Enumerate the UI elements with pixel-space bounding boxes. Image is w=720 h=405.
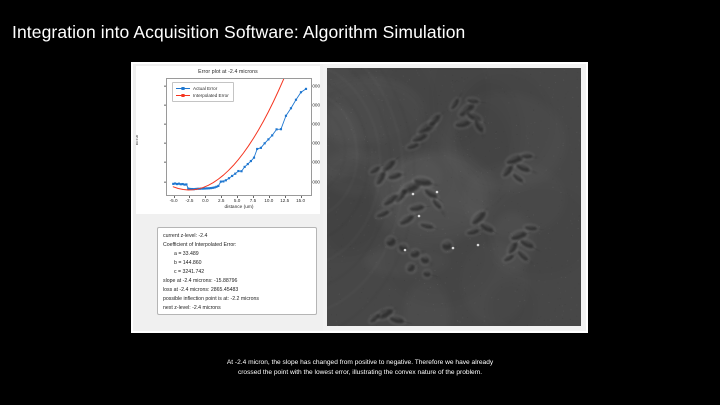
image-noise (376, 71, 377, 72)
chart-data-point (220, 181, 222, 183)
image-noise (330, 236, 331, 237)
image-noise (570, 253, 571, 254)
image-noise (427, 114, 428, 115)
image-noise (525, 290, 526, 291)
image-noise (498, 201, 499, 202)
image-noise (385, 196, 386, 197)
image-noise (340, 94, 341, 95)
image-noise (506, 94, 507, 95)
image-noise (541, 93, 542, 94)
image-noise (565, 97, 566, 98)
image-noise (331, 277, 332, 278)
chart-data-point (237, 170, 239, 172)
image-noise (440, 278, 441, 279)
image-noise (510, 160, 511, 161)
image-noise (451, 114, 452, 115)
image-noise (567, 260, 568, 261)
image-noise (522, 295, 523, 296)
image-noise (469, 260, 470, 261)
image-noise (420, 235, 421, 236)
image-noise (361, 116, 362, 117)
image-noise (544, 282, 545, 283)
image-noise (418, 267, 419, 268)
image-noise (460, 322, 461, 323)
image-noise (350, 203, 351, 204)
image-noise (447, 110, 448, 111)
image-noise (477, 265, 478, 266)
image-noise (330, 246, 331, 247)
image-noise (457, 96, 458, 97)
image-noise (455, 98, 456, 99)
image-noise (449, 164, 450, 165)
image-noise (390, 118, 391, 119)
image-noise (397, 211, 398, 212)
image-noise (456, 124, 457, 125)
image-noise (330, 260, 331, 261)
image-noise (406, 122, 407, 123)
image-noise (351, 73, 352, 74)
image-noise (378, 158, 379, 159)
image-noise (337, 250, 338, 251)
image-noise (414, 296, 415, 297)
image-noise (506, 146, 507, 147)
chart-y-axis-label: Error (136, 134, 140, 145)
image-noise (353, 171, 354, 172)
image-noise (428, 154, 429, 155)
image-noise (346, 225, 347, 226)
image-noise (372, 127, 373, 128)
image-noise (576, 305, 577, 306)
image-noise (510, 253, 511, 254)
image-noise (371, 239, 372, 240)
image-noise (403, 94, 404, 95)
image-noise (365, 136, 366, 137)
chart-legend-swatch (176, 86, 190, 92)
image-noise (380, 143, 381, 144)
image-noise (387, 126, 388, 127)
image-noise (512, 164, 513, 165)
image-noise (531, 322, 532, 323)
chart-x-tick-mark (285, 196, 286, 198)
image-noise (388, 135, 389, 136)
image-noise (408, 230, 409, 231)
image-noise (510, 69, 511, 70)
image-noise (339, 174, 340, 175)
image-noise (433, 250, 434, 251)
image-noise (376, 325, 377, 326)
image-noise (491, 200, 492, 201)
image-noise (403, 99, 404, 100)
image-noise (515, 291, 516, 292)
image-noise (401, 159, 402, 160)
image-noise (444, 155, 445, 156)
image-noise (431, 265, 432, 266)
image-noise (548, 249, 549, 250)
image-noise (573, 202, 574, 203)
image-noise (413, 250, 414, 251)
image-noise (483, 247, 484, 248)
image-noise (441, 104, 442, 105)
image-noise (524, 117, 525, 118)
image-noise (437, 149, 438, 150)
image-noise (489, 151, 490, 152)
image-noise (395, 214, 396, 215)
image-noise (336, 117, 337, 118)
image-noise (354, 209, 355, 210)
image-noise (420, 159, 421, 160)
image-noise (431, 68, 432, 69)
image-noise (545, 248, 546, 249)
chart-data-point (180, 183, 182, 185)
image-noise (572, 320, 573, 321)
image-noise (567, 91, 568, 92)
image-noise (440, 284, 441, 285)
image-noise (559, 288, 560, 289)
image-noise (340, 159, 341, 160)
image-noise (438, 244, 439, 245)
image-noise (457, 122, 458, 123)
caption-line-2: crossed the point with the lowest error,… (150, 368, 570, 378)
image-noise (580, 87, 581, 88)
image-noise (376, 298, 377, 299)
image-noise (428, 288, 429, 289)
image-noise (558, 213, 559, 214)
image-noise (355, 324, 356, 325)
image-noise (491, 122, 492, 123)
image-noise (580, 133, 581, 134)
image-noise (452, 87, 453, 88)
image-noise (383, 134, 384, 135)
image-noise (483, 244, 484, 245)
image-noise (378, 99, 379, 100)
image-noise (539, 249, 540, 250)
image-noise (538, 147, 539, 148)
image-noise (570, 319, 571, 320)
image-noise (378, 313, 379, 314)
image-noise (533, 110, 534, 111)
image-noise (512, 75, 513, 76)
image-noise (489, 184, 490, 185)
image-noise (400, 99, 401, 100)
image-noise (336, 212, 337, 213)
image-noise (577, 77, 578, 78)
image-noise (549, 87, 550, 88)
chart-x-tick-label: 15.0 (291, 198, 311, 203)
image-noise (368, 232, 369, 233)
image-noise (572, 235, 573, 236)
image-noise (550, 320, 551, 321)
image-noise (453, 291, 454, 292)
image-noise (485, 200, 486, 201)
image-noise (409, 186, 410, 187)
image-noise (511, 233, 512, 234)
image-noise (367, 298, 368, 299)
image-noise (534, 122, 535, 123)
image-noise (552, 179, 553, 180)
image-noise (568, 197, 569, 198)
image-noise (390, 196, 391, 197)
image-noise (420, 204, 421, 205)
image-noise (381, 218, 382, 219)
image-noise (549, 228, 550, 229)
image-noise (522, 283, 523, 284)
image-noise (428, 178, 429, 179)
image-noise (368, 225, 369, 226)
image-noise (419, 280, 420, 281)
image-noise (561, 187, 562, 188)
image-noise (491, 77, 492, 78)
image-noise (407, 294, 408, 295)
image-noise (336, 101, 337, 102)
chart-data-point (234, 173, 236, 175)
image-noise (538, 103, 539, 104)
image-noise (365, 197, 366, 198)
image-noise (382, 315, 383, 316)
chart-data-point (213, 186, 215, 188)
image-noise (539, 157, 540, 158)
image-noise (340, 299, 341, 300)
image-noise (366, 166, 367, 167)
image-noise (410, 159, 411, 160)
image-noise (342, 106, 343, 107)
image-noise (495, 132, 496, 133)
image-noise (560, 292, 561, 293)
image-noise (579, 215, 580, 216)
image-noise (500, 198, 501, 199)
image-noise (342, 223, 343, 224)
image-noise (455, 81, 456, 82)
image-noise (571, 236, 572, 237)
image-noise (478, 259, 479, 260)
image-noise (497, 147, 498, 148)
image-noise (384, 200, 385, 201)
chart-data-point (176, 183, 178, 185)
image-noise (407, 292, 408, 293)
image-noise (428, 158, 429, 159)
image-noise (357, 187, 358, 188)
image-noise (425, 135, 426, 136)
image-noise (502, 174, 503, 175)
image-noise (523, 259, 524, 260)
image-noise (386, 143, 387, 144)
image-noise (499, 147, 500, 148)
image-noise (359, 78, 360, 79)
image-noise (490, 170, 491, 171)
image-noise (371, 90, 372, 91)
image-noise (469, 142, 470, 143)
image-noise (364, 235, 365, 236)
algorithm-readout-box: current z-level: -2.4Coefficient of Inte… (157, 227, 317, 315)
image-noise (491, 297, 492, 298)
image-noise (566, 264, 567, 265)
image-noise (427, 231, 428, 232)
image-noise (353, 159, 354, 160)
image-noise (423, 101, 424, 102)
image-noise (558, 147, 559, 148)
image-noise (434, 182, 435, 183)
image-noise (567, 193, 568, 194)
image-noise (480, 231, 481, 232)
image-noise (570, 220, 571, 221)
image-noise (387, 178, 388, 179)
image-noise (351, 216, 352, 217)
image-noise (328, 145, 329, 146)
image-noise (427, 289, 428, 290)
image-noise (360, 297, 361, 298)
image-noise (360, 177, 361, 178)
image-noise (402, 185, 403, 186)
image-noise (529, 133, 530, 134)
chart-title: Error plot at -2.4 microns (136, 69, 320, 75)
image-noise (420, 229, 421, 230)
image-noise (528, 260, 529, 261)
image-noise (331, 314, 332, 315)
image-noise (406, 83, 407, 84)
chart-legend-item: Interpolated Error (176, 92, 229, 99)
image-noise (474, 111, 475, 112)
image-noise (432, 210, 433, 211)
chart-data-point (285, 115, 287, 117)
image-noise (440, 190, 441, 191)
image-noise (562, 116, 563, 117)
image-noise (403, 198, 404, 199)
image-noise (446, 277, 447, 278)
image-noise (440, 256, 441, 257)
image-noise (460, 201, 461, 202)
image-noise (457, 173, 458, 174)
image-noise (418, 272, 419, 273)
image-noise (467, 127, 468, 128)
chart-data-point (204, 187, 206, 189)
image-noise (372, 149, 373, 150)
image-noise (551, 267, 552, 268)
image-noise (330, 85, 331, 86)
image-noise (462, 253, 463, 254)
image-noise (410, 93, 411, 94)
image-noise (470, 276, 471, 277)
image-noise (444, 205, 445, 206)
image-noise (521, 266, 522, 267)
image-noise (336, 314, 337, 315)
image-noise (462, 177, 463, 178)
image-noise (575, 148, 576, 149)
image-noise (376, 77, 377, 78)
image-noise (456, 312, 457, 313)
image-noise (512, 91, 513, 92)
image-noise (557, 173, 558, 174)
image-noise (423, 123, 424, 124)
image-noise (350, 243, 351, 244)
chart-legend-label: Interpolated Error (193, 93, 229, 98)
image-noise (478, 210, 479, 211)
image-noise (539, 298, 540, 299)
image-noise (516, 115, 517, 116)
image-noise (580, 70, 581, 71)
image-noise (572, 97, 573, 98)
image-noise (553, 156, 554, 157)
image-noise (500, 237, 501, 238)
image-noise (571, 309, 572, 310)
image-noise (482, 201, 483, 202)
image-noise (400, 185, 401, 186)
image-noise (420, 68, 421, 69)
image-noise (580, 192, 581, 193)
image-noise (339, 294, 340, 295)
image-noise (352, 109, 353, 110)
bright-speck (404, 249, 407, 252)
image-noise (495, 133, 496, 134)
image-noise (579, 160, 580, 161)
image-noise (443, 264, 444, 265)
image-noise (462, 294, 463, 295)
image-noise (570, 271, 571, 272)
image-noise (474, 147, 475, 148)
image-noise (393, 278, 394, 279)
image-noise (528, 174, 529, 175)
chart-data-point (250, 160, 252, 162)
image-noise (414, 270, 415, 271)
image-noise (447, 251, 448, 252)
image-noise (401, 266, 402, 267)
image-noise (521, 276, 522, 277)
image-noise (547, 267, 548, 268)
image-noise (470, 159, 471, 160)
image-noise (432, 114, 433, 115)
image-noise (540, 223, 541, 224)
image-noise (580, 236, 581, 237)
image-noise (426, 253, 427, 254)
image-noise (481, 210, 482, 211)
image-noise (341, 119, 342, 120)
image-noise (552, 230, 553, 231)
image-noise (381, 126, 382, 127)
image-noise (519, 79, 520, 80)
image-noise (374, 321, 375, 322)
image-noise (464, 79, 465, 80)
image-noise (577, 79, 578, 80)
image-noise (467, 77, 468, 78)
image-noise (442, 303, 443, 304)
image-noise (403, 76, 404, 77)
image-noise (482, 322, 483, 323)
image-noise (383, 109, 384, 110)
image-noise (382, 100, 383, 101)
image-noise (474, 245, 475, 246)
image-noise (419, 75, 420, 76)
image-noise (396, 251, 397, 252)
image-noise (441, 305, 442, 306)
image-noise (335, 134, 336, 135)
image-noise (483, 204, 484, 205)
image-noise (513, 257, 514, 258)
image-noise (399, 106, 400, 107)
chart-x-tick-mark (205, 196, 206, 198)
image-noise (523, 296, 524, 297)
image-noise (563, 143, 564, 144)
image-noise (367, 223, 368, 224)
image-noise (469, 238, 470, 239)
image-noise (422, 108, 423, 109)
image-noise (376, 227, 377, 228)
image-noise (415, 201, 416, 202)
readout-line: possible inflection point is at: -2.2 mi… (163, 295, 311, 304)
image-noise (520, 283, 521, 284)
image-noise (514, 267, 515, 268)
image-noise (484, 309, 485, 310)
image-noise (461, 280, 462, 281)
image-noise (356, 84, 357, 85)
image-noise (548, 128, 549, 129)
